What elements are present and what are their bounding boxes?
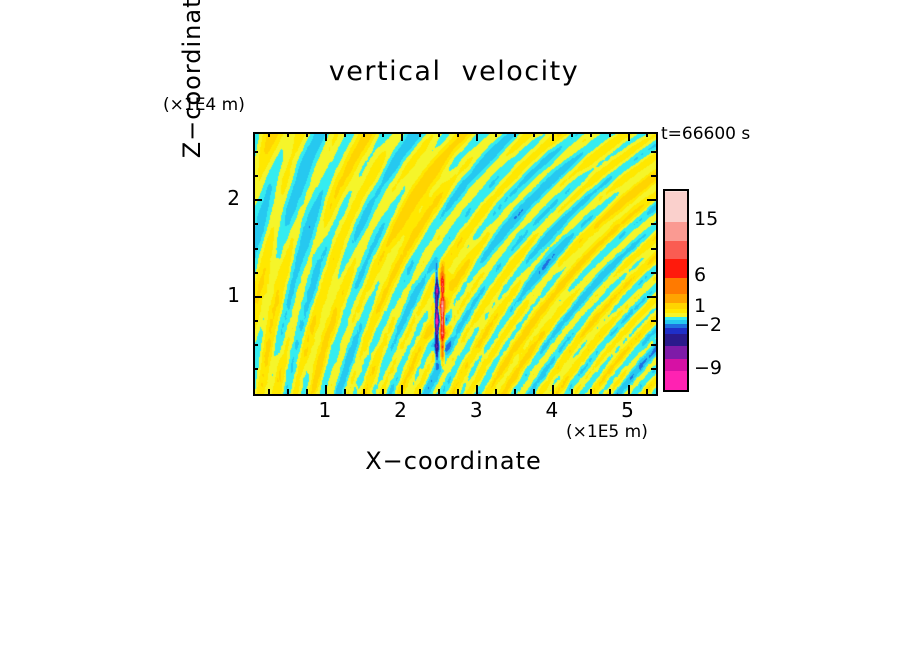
x-major-tick [325, 385, 327, 394]
x-minor-tick [419, 389, 421, 394]
x-major-tick [401, 385, 403, 394]
x-tick-label: 3 [456, 398, 496, 422]
colorbar-band [665, 309, 687, 313]
x-minor-tick-top [646, 132, 648, 137]
y-minor-tick-right [651, 151, 656, 153]
x-minor-tick-top [382, 132, 384, 137]
x-minor-tick-top [363, 132, 365, 137]
y-minor-tick [253, 320, 258, 322]
x-minor-tick [382, 389, 384, 394]
velocity-field-image [255, 134, 656, 394]
x-tick-label: 2 [381, 398, 421, 422]
y-minor-tick-right [651, 175, 656, 177]
y-axis-label: Z−coordinate [178, 0, 206, 170]
colorbar-band [665, 371, 687, 390]
x-major-tick-top [552, 132, 554, 141]
y-minor-tick [253, 175, 258, 177]
chart-title: vertical velocity [253, 56, 655, 87]
x-major-tick-top [628, 132, 630, 141]
y-minor-tick-right [651, 368, 656, 370]
x-minor-tick-top [609, 132, 611, 137]
colorbar-band [665, 259, 687, 278]
y-minor-tick [253, 151, 258, 153]
x-minor-tick-top [514, 132, 516, 137]
x-minor-tick-top [590, 132, 592, 137]
colorbar-band [665, 222, 687, 241]
x-minor-tick-top [571, 132, 573, 137]
y-major-tick [253, 199, 262, 201]
x-minor-tick [287, 389, 289, 394]
colorbar-band [665, 241, 687, 260]
x-axis-label: X−coordinate [253, 447, 654, 475]
y-minor-tick [253, 248, 258, 250]
colorbar-band [665, 359, 687, 371]
y-minor-tick [253, 368, 258, 370]
colorbar-band [665, 303, 687, 309]
x-minor-tick-top [268, 132, 270, 137]
colorbar-bands [665, 191, 687, 390]
x-major-tick [476, 385, 478, 394]
x-minor-tick [306, 389, 308, 394]
x-axis-units: (×1E5 m) [566, 422, 648, 442]
y-minor-tick [253, 272, 258, 274]
plot-area [253, 132, 658, 396]
y-minor-tick-right [651, 248, 656, 250]
colorbar-band [665, 324, 687, 328]
colorbar-band [665, 294, 687, 303]
colorbar-band [665, 191, 687, 222]
x-tick-label: 1 [305, 398, 345, 422]
colorbar-band [665, 346, 687, 358]
y-minor-tick [253, 344, 258, 346]
y-tick-label: 2 [200, 186, 240, 210]
x-minor-tick-top [495, 132, 497, 137]
y-major-tick-right [647, 199, 656, 201]
figure-canvas: vertical velocity (×1E4 m) t=66600 s 123… [0, 0, 904, 654]
y-minor-tick-right [651, 344, 656, 346]
colorbar-band [665, 191, 687, 192]
time-annotation: t=66600 s [661, 124, 750, 144]
y-tick-label: 1 [200, 283, 240, 307]
x-minor-tick-top [533, 132, 535, 137]
colorbar-tick-label: −9 [694, 357, 722, 379]
y-major-tick [253, 296, 262, 298]
y-minor-tick [253, 223, 258, 225]
colorbar-band [665, 278, 687, 294]
x-minor-tick [268, 389, 270, 394]
x-minor-tick [646, 389, 648, 394]
x-minor-tick-top [438, 132, 440, 137]
x-major-tick-top [476, 132, 478, 141]
colorbar [663, 189, 689, 392]
x-minor-tick [571, 389, 573, 394]
x-tick-label: 5 [608, 398, 648, 422]
x-minor-tick-top [457, 132, 459, 137]
colorbar-band [665, 334, 687, 346]
x-minor-tick-top [419, 132, 421, 137]
x-minor-tick [363, 389, 365, 394]
x-minor-tick [344, 389, 346, 394]
x-minor-tick-top [344, 132, 346, 137]
x-minor-tick [590, 389, 592, 394]
x-minor-tick [609, 389, 611, 394]
x-minor-tick-top [306, 132, 308, 137]
x-minor-tick [495, 389, 497, 394]
x-major-tick-top [401, 132, 403, 141]
x-major-tick [628, 385, 630, 394]
y-major-tick-right [647, 296, 656, 298]
x-minor-tick-top [287, 132, 289, 137]
x-minor-tick [438, 389, 440, 394]
colorbar-tick-label: −2 [694, 314, 722, 336]
colorbar-band [665, 317, 687, 321]
y-minor-tick-right [651, 320, 656, 322]
colorbar-band [665, 328, 687, 334]
x-minor-tick [533, 389, 535, 394]
y-minor-tick-right [651, 272, 656, 274]
x-minor-tick [514, 389, 516, 394]
x-major-tick-top [325, 132, 327, 141]
y-minor-tick-right [651, 223, 656, 225]
x-minor-tick [457, 389, 459, 394]
x-tick-label: 4 [532, 398, 572, 422]
colorbar-tick-label: 6 [694, 264, 706, 286]
x-major-tick [552, 385, 554, 394]
colorbar-band [665, 320, 687, 324]
colorbar-tick-label: 15 [694, 208, 718, 230]
colorbar-band [665, 313, 687, 317]
